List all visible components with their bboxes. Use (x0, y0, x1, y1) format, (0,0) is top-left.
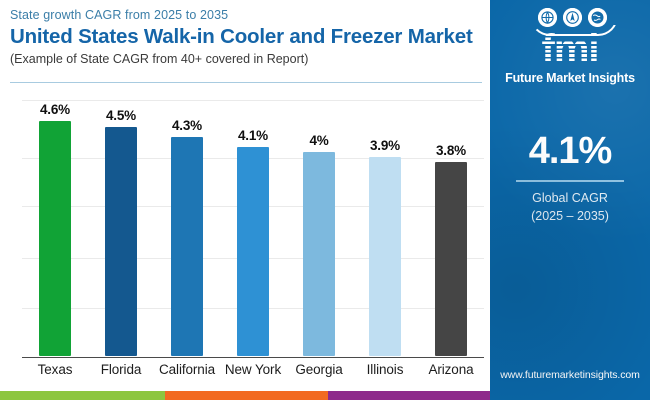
x-axis-label: California (154, 362, 220, 377)
stat-divider (516, 180, 624, 182)
x-axis-line (22, 357, 484, 359)
bar-group[interactable]: 3.8% (418, 96, 484, 356)
website-url[interactable]: www.futuremarketinsights.com (490, 369, 650, 381)
accent-segment-purple (328, 391, 490, 400)
x-axis-label: Florida (88, 362, 154, 377)
brand-panel: fmi Future Market Insights 4.1% Global C… (490, 0, 650, 400)
stat-value: 4.1% (490, 130, 650, 172)
stat-caption-line1: Global CAGR (490, 189, 650, 207)
logo-badge-group (518, 8, 622, 28)
globe-icon (538, 8, 557, 27)
bar-group[interactable]: 4.6% (22, 96, 88, 356)
stat-caption-line2: (2025 – 2035) (490, 207, 650, 225)
header-divider (10, 82, 482, 83)
bar-group[interactable]: 4.5% (88, 96, 154, 356)
infographic-root: State growth CAGR from 2025 to 2035 Unit… (0, 0, 650, 400)
x-axis-label: Illinois (352, 362, 418, 377)
bar-group[interactable]: 4% (286, 96, 352, 356)
bar-group[interactable]: 4.3% (154, 96, 220, 356)
accent-segment-green (0, 391, 165, 400)
bar-value-label: 3.9% (352, 138, 418, 153)
fmi-logo: fmi Future Market Insights (490, 8, 650, 85)
bar[interactable] (303, 152, 335, 356)
logo-tagline: Future Market Insights (490, 71, 650, 85)
chart-eyebrow: State growth CAGR from 2025 to 2035 (10, 7, 490, 23)
x-axis-label: Georgia (286, 362, 352, 377)
bar[interactable] (369, 157, 401, 356)
bar[interactable] (39, 121, 71, 356)
world-icon (588, 8, 607, 27)
bar-value-label: 4% (286, 133, 352, 148)
bar-group[interactable]: 3.9% (352, 96, 418, 356)
x-axis-label: Arizona (418, 362, 484, 377)
page-title: United States Walk-in Cooler and Freezer… (10, 24, 490, 49)
x-axis-labels: TexasFloridaCaliforniaNew YorkGeorgiaIll… (22, 362, 484, 377)
global-cagr-stat: 4.1% Global CAGR (2025 – 2035) (490, 130, 650, 225)
compass-icon (563, 8, 582, 27)
accent-strip (0, 391, 490, 400)
chart-note: (Example of State CAGR from 40+ covered … (10, 51, 490, 68)
bar-value-label: 4.3% (154, 118, 220, 133)
bar-value-label: 4.6% (22, 102, 88, 117)
chart-panel: State growth CAGR from 2025 to 2035 Unit… (0, 0, 490, 400)
bar-value-label: 4.1% (220, 128, 286, 143)
bar-value-label: 3.8% (418, 143, 484, 158)
x-axis-label: New York (220, 362, 286, 377)
chart-header: State growth CAGR from 2025 to 2035 Unit… (0, 0, 490, 68)
bar-series: 4.6%4.5%4.3%4.1%4%3.9%3.8% (22, 96, 484, 356)
bar[interactable] (171, 137, 203, 356)
bar[interactable] (105, 127, 137, 356)
accent-segment-orange (165, 391, 328, 400)
chart-plot-area: 4.6%4.5%4.3%4.1%4%3.9%3.8% (22, 96, 484, 358)
bar[interactable] (237, 147, 269, 356)
x-axis-label: Texas (22, 362, 88, 377)
bar-value-label: 4.5% (88, 108, 154, 123)
bar-group[interactable]: 4.1% (220, 96, 286, 356)
bar[interactable] (435, 162, 467, 356)
